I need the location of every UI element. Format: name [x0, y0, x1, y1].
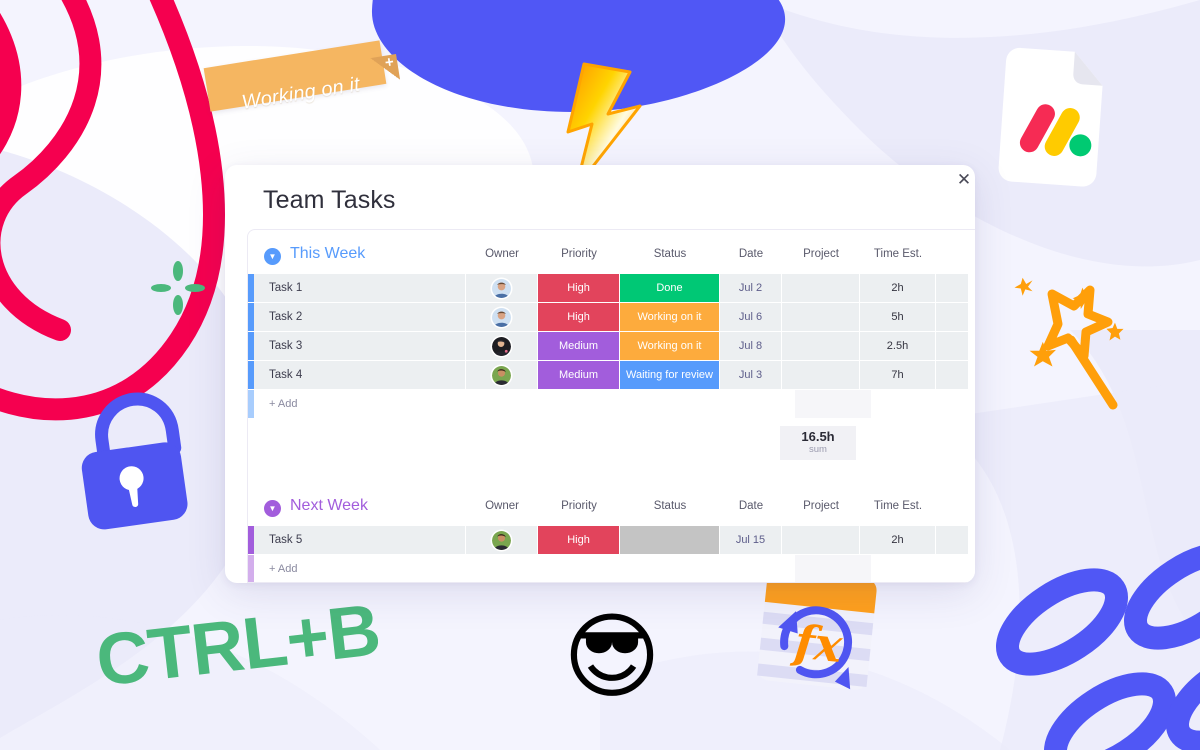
cell-owner[interactable] [466, 361, 538, 389]
group-title[interactable]: This Week [290, 245, 365, 263]
collapse-chevron-icon[interactable]: ▼ [264, 500, 281, 517]
summary-label: sum [809, 444, 827, 455]
cell-owner[interactable] [466, 303, 538, 331]
cell-task-name[interactable]: Task 1 [254, 274, 466, 302]
cell-project[interactable] [782, 274, 860, 302]
page-title: Team Tasks [263, 186, 396, 215]
group-header: ▼ This Week Owner Priority Status Date P… [248, 240, 970, 274]
table-row[interactable]: Task 1 High Done Jul 2 2h [248, 274, 970, 302]
working-on-it-tag: + Working on it [206, 40, 396, 120]
column-header-time[interactable]: Time Est. [860, 248, 936, 260]
cell-date[interactable]: Jul 2 [720, 274, 782, 302]
avatar [492, 308, 511, 327]
table-row[interactable]: Task 5 High Jul 15 2h [248, 526, 970, 554]
add-row-tail [871, 555, 903, 583]
column-header-status[interactable]: Status [620, 248, 720, 260]
team-tasks-modal: Team Tasks ▼ This Week Owner Priority St… [225, 165, 975, 583]
cell-spacer [936, 526, 968, 554]
cell-status[interactable]: Working on it [620, 332, 720, 360]
canvas-root: + Working on it [0, 0, 1200, 750]
cell-priority[interactable]: High [538, 274, 620, 302]
board-grid: ▼ This Week Owner Priority Status Date P… [248, 230, 970, 583]
cell-task-name[interactable]: Task 3 [254, 332, 466, 360]
cell-owner[interactable] [466, 526, 538, 554]
cell-owner[interactable] [466, 332, 538, 360]
summary-spacer [248, 426, 780, 460]
avatar [492, 337, 511, 356]
cell-date[interactable]: Jul 15 [720, 526, 782, 554]
avatar [492, 279, 511, 298]
cell-spacer [936, 274, 968, 302]
cell-task-name[interactable]: Task 5 [254, 526, 466, 554]
column-header-time[interactable]: Time Est. [860, 500, 936, 512]
group-next-week: ▼ Next Week Owner Priority Status Date P… [248, 492, 970, 583]
cell-project[interactable] [782, 332, 860, 360]
cell-time-estimate[interactable]: 2.5h [860, 332, 936, 360]
summary-time-box[interactable]: 16.5h sum [780, 426, 856, 460]
avatar [492, 366, 511, 385]
monday-logo-document-icon [988, 48, 1108, 198]
cell-time-estimate[interactable]: 2h [860, 526, 936, 554]
cell-status[interactable] [620, 526, 720, 554]
cell-spacer [936, 332, 968, 360]
lock-icon [70, 392, 195, 547]
column-header-project[interactable]: Project [782, 248, 860, 260]
cell-task-name[interactable]: Task 2 [254, 303, 466, 331]
group-this-week: ▼ This Week Owner Priority Status Date P… [248, 240, 970, 460]
cell-status[interactable]: Waiting for review [620, 361, 720, 389]
group-title[interactable]: Next Week [290, 497, 368, 515]
add-row-spacer [481, 390, 795, 418]
column-header-date[interactable]: Date [720, 248, 782, 260]
cell-date[interactable]: Jul 6 [720, 303, 782, 331]
fx-formula-icon: fx [752, 562, 892, 707]
column-header-owner[interactable]: Owner [466, 248, 538, 260]
magic-wand-icon [1012, 268, 1140, 419]
add-item-label[interactable]: + Add [254, 555, 481, 583]
column-header-priority[interactable]: Priority [538, 500, 620, 512]
close-icon[interactable]: ✕ [951, 166, 975, 192]
cell-time-estimate[interactable]: 7h [860, 361, 936, 389]
cell-date[interactable]: Jul 8 [720, 332, 782, 360]
column-header-date[interactable]: Date [720, 500, 782, 512]
add-row[interactable]: + Add [248, 390, 970, 418]
column-header-status[interactable]: Status [620, 500, 720, 512]
table-row[interactable]: Task 2 High Working on it Jul 6 5h [248, 303, 970, 331]
column-header-owner[interactable]: Owner [466, 500, 538, 512]
add-row[interactable]: + Add [248, 555, 970, 583]
cell-project[interactable] [782, 303, 860, 331]
add-row-tail [871, 390, 903, 418]
summary-value: 16.5h [801, 430, 834, 444]
table-row[interactable]: Task 4 Medium Waiting for review Jul 3 7… [248, 361, 970, 389]
cell-date[interactable]: Jul 3 [720, 361, 782, 389]
group-header: ▼ Next Week Owner Priority Status Date P… [248, 492, 970, 526]
column-header-priority[interactable]: Priority [538, 248, 620, 260]
add-row-time-cell [795, 390, 871, 418]
cell-spacer [936, 361, 968, 389]
cell-project[interactable] [782, 361, 860, 389]
column-header-project[interactable]: Project [782, 500, 860, 512]
cell-spacer [936, 303, 968, 331]
cell-priority[interactable]: High [538, 526, 620, 554]
cell-priority[interactable]: High [538, 303, 620, 331]
cell-time-estimate[interactable]: 2h [860, 274, 936, 302]
add-row-time-cell [795, 555, 871, 583]
cell-owner[interactable] [466, 274, 538, 302]
cell-project[interactable] [782, 526, 860, 554]
svg-text:fx: fx [789, 614, 845, 673]
add-item-label[interactable]: + Add [254, 390, 481, 418]
collapse-chevron-icon[interactable]: ▼ [264, 248, 281, 265]
cell-status[interactable]: Working on it [620, 303, 720, 331]
table-row[interactable]: Task 3 Medium Working on it Jul 8 2.5h [248, 332, 970, 360]
cell-status[interactable]: Done [620, 274, 720, 302]
green-plus-divider-icon [148, 258, 208, 323]
cell-task-name[interactable]: Task 4 [254, 361, 466, 389]
avatar [492, 531, 511, 550]
group-summary-row: 16.5h sum [248, 426, 970, 460]
sunglasses-emoji: 😎 [563, 611, 661, 705]
cell-priority[interactable]: Medium [538, 361, 620, 389]
cell-priority[interactable]: Medium [538, 332, 620, 360]
add-row-spacer [481, 555, 795, 583]
cell-time-estimate[interactable]: 5h [860, 303, 936, 331]
board-container: ▼ This Week Owner Priority Status Date P… [247, 229, 975, 583]
